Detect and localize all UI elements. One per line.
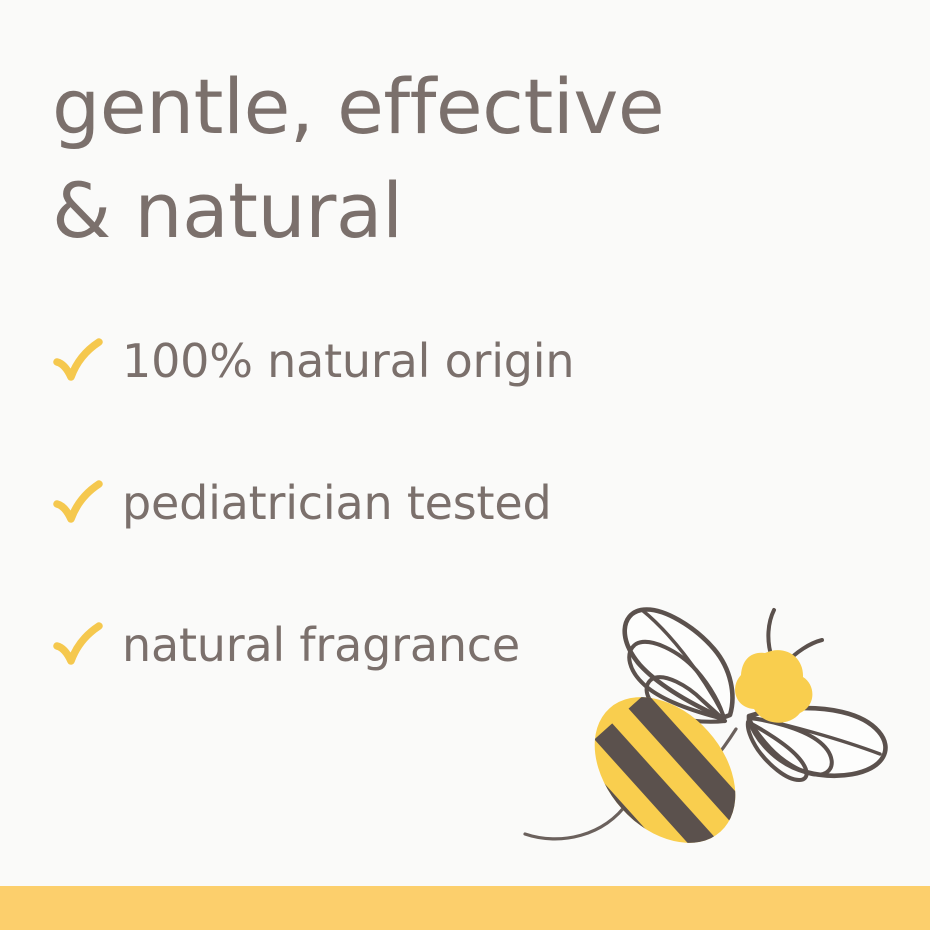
benefit-label: natural fragrance	[122, 622, 520, 668]
check-icon	[52, 335, 104, 387]
benefit-label: pediatrician tested	[122, 480, 551, 526]
flight-trail-path	[525, 729, 736, 839]
bee-antennae	[768, 610, 822, 664]
check-icon	[52, 477, 104, 529]
check-icon	[52, 619, 104, 671]
list-item: pediatrician tested	[52, 460, 772, 546]
bee-abdomen-body	[566, 670, 763, 868]
promo-card: gentle, effective & natural 100% natural…	[0, 0, 930, 930]
bee-right-wing	[748, 708, 886, 780]
bee-stripes	[562, 663, 786, 868]
benefit-list: 100% natural origin pediatrician tested …	[52, 318, 772, 688]
bee-abdomen	[562, 663, 786, 868]
page-title: gentle, effective & natural	[52, 55, 852, 263]
list-item: 100% natural origin	[52, 318, 772, 404]
bottom-accent-bar	[0, 886, 930, 930]
list-item: natural fragrance	[52, 602, 772, 688]
benefit-label: 100% natural origin	[122, 338, 574, 384]
